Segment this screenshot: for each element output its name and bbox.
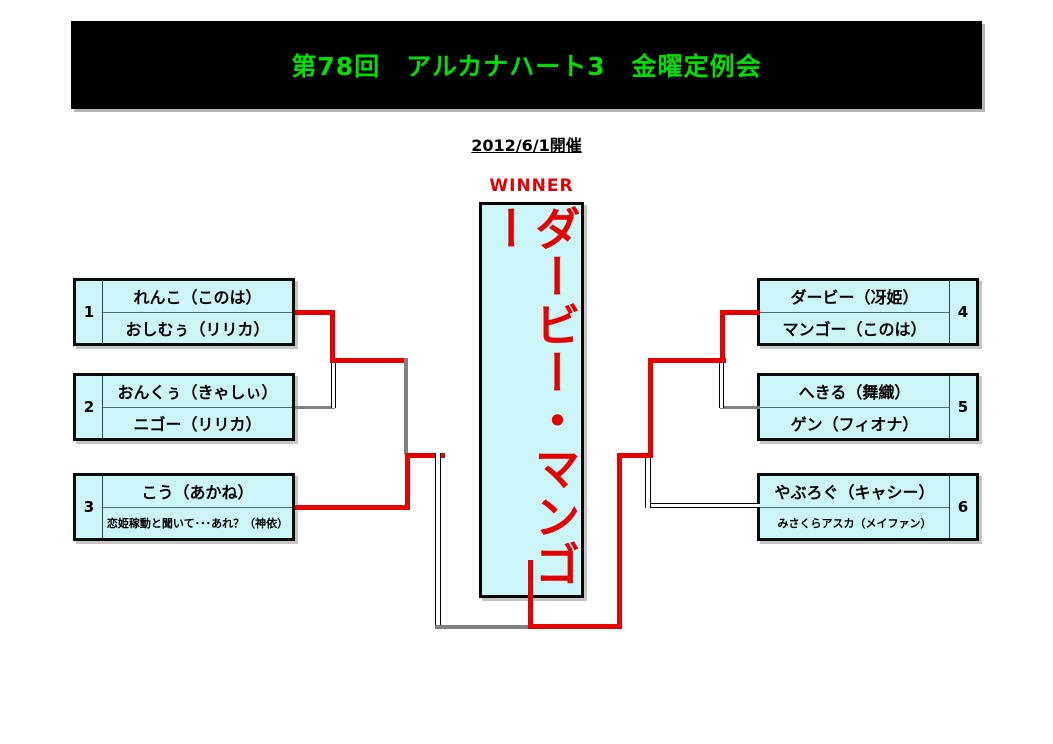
player-name: マンゴー（このは）	[760, 313, 949, 344]
player-name: こう（あかね）	[103, 476, 292, 508]
match-players-4: ダービー（冴姫） マンゴー（このは）	[760, 281, 949, 343]
player-name: みさくらアスカ（メイファン）	[760, 508, 949, 539]
player-name: れんこ（このは）	[103, 281, 292, 313]
match-box-5[interactable]: 5 へきる（舞織） ゲン（フィオナ）	[757, 373, 979, 441]
connector-match6-line-v	[645, 453, 651, 508]
connector-match5-line-v	[719, 358, 724, 408]
event-date-text: 2012/6/1開催	[471, 136, 582, 155]
player-name: ニゴー（リリカ）	[103, 408, 292, 439]
connector-left-semi-h	[330, 358, 408, 363]
connector-grandfinal-to-winner	[528, 560, 533, 629]
player-name: やぶろぐ（キャシー）	[760, 476, 949, 508]
connector-right-semi-h	[648, 358, 726, 363]
tournament-bracket-page: 第78回 アルカナハート3 金曜定例会 2012/6/1開催 WINNER ダー…	[0, 0, 1053, 744]
player-name: ゲン（フィオナ）	[760, 408, 949, 439]
match-players-6: やぶろぐ（キャシー） みさくらアスカ（メイファン）	[760, 476, 949, 538]
winner-box: ダービー・マンゴー	[479, 202, 584, 598]
match-box-6[interactable]: 6 やぶろぐ（キャシー） みさくらアスカ（メイファン）	[757, 473, 979, 541]
connector-left-semi-v	[404, 358, 408, 454]
winner-label: WINNER	[479, 176, 584, 196]
match-players-1: れんこ（このは） おしむぅ（リリカ）	[103, 281, 292, 343]
player-name: ダービー（冴姫）	[760, 281, 949, 313]
connector-match1-winner-h	[295, 310, 335, 315]
connector-right-to-grandfinal	[528, 624, 622, 629]
match-seed-2: 2	[76, 376, 103, 438]
match-box-2[interactable]: 2 おんくぅ（きゃしぃ） ニゴー（リリカ）	[73, 373, 295, 441]
player-name: おんくぅ（きゃしぃ）	[103, 376, 292, 408]
match-seed-6: 6	[949, 476, 976, 538]
winner-name: ダービー・マンゴー	[482, 205, 581, 595]
connector-match2-line-h	[295, 406, 335, 409]
connector-right-final-h	[617, 453, 653, 458]
match-players-2: おんくぅ（きゃしぃ） ニゴー（リリカ）	[103, 376, 292, 438]
player-name: へきる（舞織）	[760, 376, 949, 408]
match-box-3[interactable]: 3 こう（あかね） 恋姫稼動と聞いて･･･あれ？（神依）	[73, 473, 295, 541]
match-players-5: へきる（舞織） ゲン（フィオナ）	[760, 376, 949, 438]
player-name: 恋姫稼動と聞いて･･･あれ？（神依）	[103, 508, 292, 539]
connector-match4-winner-v	[720, 310, 725, 362]
player-name: おしむぅ（リリカ）	[103, 313, 292, 344]
connector-match4-winner-h	[720, 310, 760, 315]
connector-match3-winner-h	[295, 505, 410, 510]
connector-match1-winner-v	[330, 310, 335, 362]
connector-match5-line-h	[720, 406, 760, 409]
match-players-3: こう（あかね） 恋姫稼動と聞いて･･･あれ？（神依）	[103, 476, 292, 538]
connector-match3-winner-v	[405, 453, 410, 510]
match-seed-3: 3	[76, 476, 103, 538]
connector-match6-line-h	[645, 503, 760, 508]
match-seed-5: 5	[949, 376, 976, 438]
connector-match2-line-v	[331, 358, 336, 408]
match-box-1[interactable]: 1 れんこ（このは） おしむぅ（リリカ）	[73, 278, 295, 346]
match-box-4[interactable]: 4 ダービー（冴姫） マンゴー（このは）	[757, 278, 979, 346]
connector-right-semi-v	[648, 358, 653, 454]
match-seed-1: 1	[76, 281, 103, 343]
connector-right-final-v	[617, 453, 622, 629]
event-date: 2012/6/1開催	[0, 132, 1053, 156]
banner-title: 第78回 アルカナハート3 金曜定例会	[71, 47, 982, 83]
title-banner: 第78回 アルカナハート3 金曜定例会	[71, 21, 982, 109]
match-seed-4: 4	[949, 281, 976, 343]
connector-left-to-grandfinal	[435, 625, 531, 629]
connector-left-final-v	[435, 453, 441, 629]
